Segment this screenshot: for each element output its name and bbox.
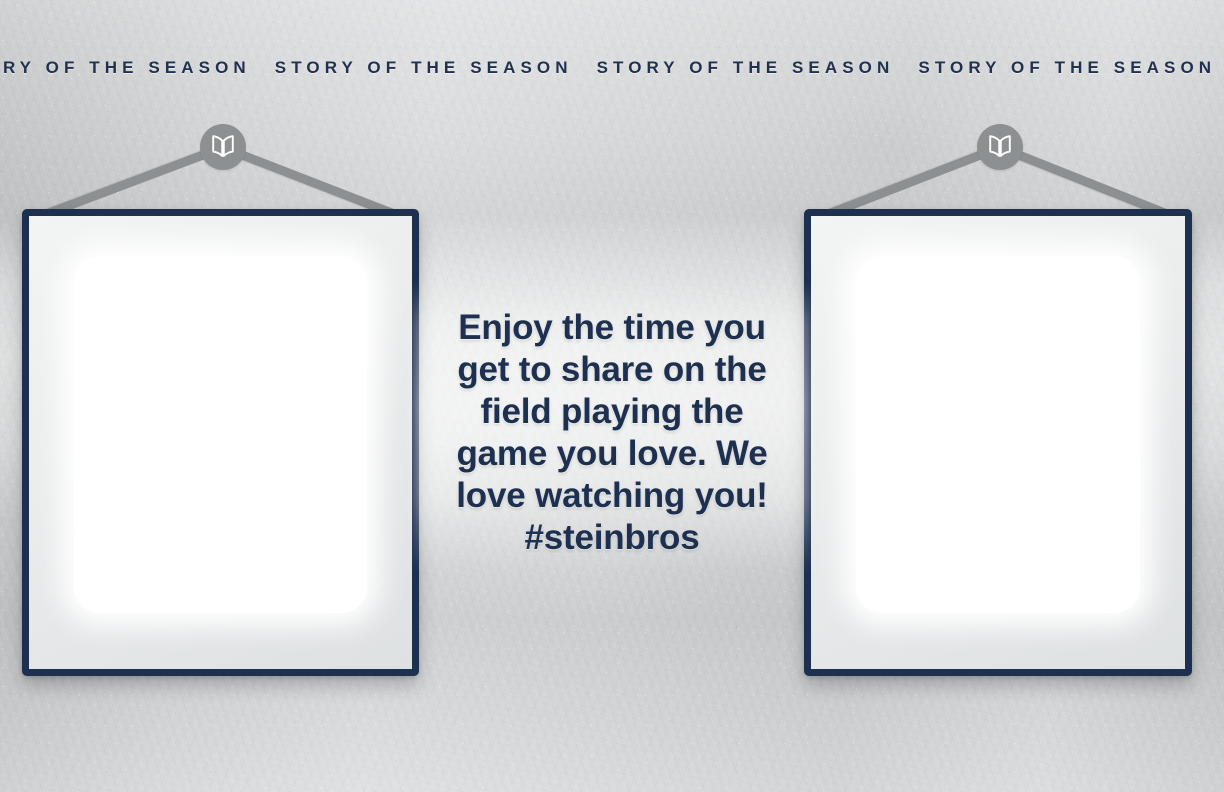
photo-placeholder[interactable] — [74, 256, 367, 613]
marquee-item: STORY OF THE SEASON — [275, 58, 597, 78]
open-book-icon — [977, 124, 1023, 170]
hanger-wire-right — [221, 143, 394, 217]
quote-line: game you love. We — [414, 433, 810, 475]
marquee-item: STORY OF THE SEASON — [918, 58, 1224, 78]
photo-frame-right[interactable] — [804, 209, 1192, 676]
hanger-wire-left — [828, 143, 1001, 217]
quote-line: field playing the — [414, 391, 810, 433]
marquee-item: STORY OF THE SEASON — [597, 58, 919, 78]
hanger-wire-right — [998, 143, 1167, 217]
photo-placeholder[interactable] — [856, 256, 1140, 613]
quote-line: get to share on the — [414, 349, 810, 391]
photo-frame-left[interactable] — [22, 209, 419, 676]
open-book-icon — [200, 124, 246, 170]
quote-line: love watching you! — [414, 475, 810, 517]
hanger-wire-left — [46, 143, 224, 217]
marquee-track: STORY OF THE SEASON STORY OF THE SEASON … — [0, 58, 1224, 78]
quote-hashtag: #steinbros — [414, 517, 810, 559]
season-quote: Enjoy the time you get to share on the f… — [414, 307, 810, 559]
quote-line: Enjoy the time you — [414, 307, 810, 349]
slide-canvas: STORY OF THE SEASON STORY OF THE SEASON … — [0, 0, 1224, 792]
marquee-item: STORY OF THE SEASON — [0, 58, 275, 78]
story-of-the-season-marquee: STORY OF THE SEASON STORY OF THE SEASON … — [0, 46, 1224, 90]
